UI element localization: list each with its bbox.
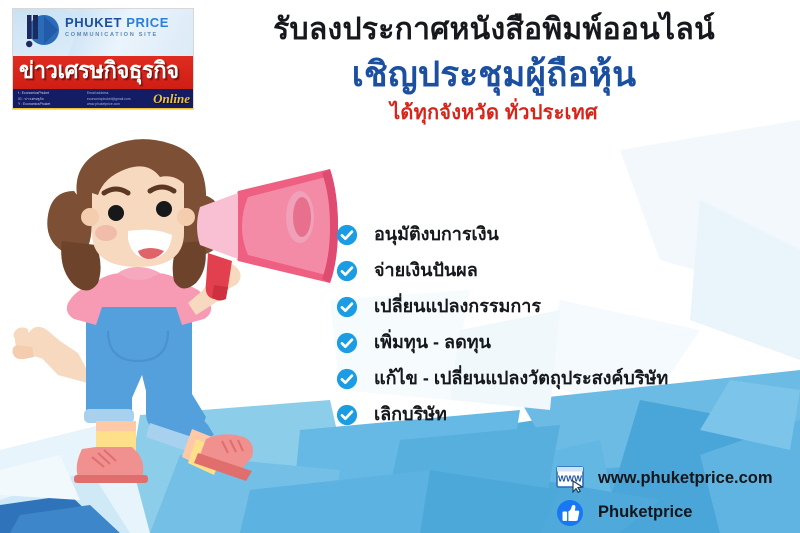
- check-circle-icon: [336, 224, 358, 246]
- check-circle-icon: [336, 404, 358, 426]
- list-item-label: เลิกบริษัท: [374, 404, 447, 426]
- list-item: เปลี่ยนแปลงกรรมการ: [336, 290, 668, 324]
- list-item: แก้ไข - เปลี่ยนแปลงวัตถุประสงค์บริษัท: [336, 362, 668, 396]
- facebook-thumbs-up-icon: [556, 499, 586, 527]
- logo-email-smallprint: Email addresseconomicphuket@gmail.comwww…: [87, 91, 131, 108]
- logo-navy-strip: f : EconomicsPhuketIG : ข่าวเศรษฐกิจY : …: [13, 89, 193, 110]
- list-item: เลิกบริษัท: [336, 398, 668, 432]
- website-text: www.phuketprice.com: [598, 469, 773, 489]
- list-item: อนุมัติงบการเงิน: [336, 218, 668, 252]
- brand-logo[interactable]: PHUKET PRICE COMMUNICATION SITE ข่าวเศรษ…: [12, 8, 194, 110]
- website-row[interactable]: WWW www.phuketprice.com: [556, 462, 773, 496]
- logo-red-band: ข่าวเศรษกิจธุรกิจ f : EconomicsPhuketIG …: [13, 56, 193, 110]
- list-item: เพิ่มทุน - ลดทุน: [336, 326, 668, 360]
- logo-thai-headline: ข่าวเศรษกิจธุรกิจ: [19, 56, 182, 85]
- logo-social-smallprint: f : EconomicsPhuketIG : ข่าวเศรษฐกิจY : …: [18, 91, 50, 108]
- check-circle-icon: [336, 368, 358, 390]
- headline-tagline: ได้ทุกจังหวัด ทั่วประเทศ: [196, 100, 792, 126]
- list-item-label: แก้ไข - เปลี่ยนแปลงวัตถุประสงค์บริษัท: [374, 368, 668, 390]
- face: [81, 151, 195, 267]
- check-circle-icon: [336, 332, 358, 354]
- illustration-svg: [0, 135, 340, 533]
- list-item-label: เปลี่ยนแปลงกรรมการ: [374, 296, 541, 318]
- facebook-text: Phuketprice: [598, 503, 692, 523]
- list-item-label: เพิ่มทุน - ลดทุน: [374, 332, 491, 354]
- headline-secondary: เชิญประชุมผู้ถือหุ้น: [196, 53, 792, 97]
- logo-wordmark: PHUKET PRICE COMMUNICATION SITE: [65, 16, 169, 39]
- logo-upper-panel: PHUKET PRICE COMMUNICATION SITE: [13, 9, 193, 56]
- www-browser-icon: WWW: [556, 465, 586, 493]
- logo-brand-text: PHUKET PRICE: [65, 16, 169, 29]
- list-item-label: อนุมัติงบการเงิน: [374, 224, 499, 246]
- contact-block: WWW www.phuketprice.com Phuketprice: [556, 462, 773, 530]
- headline-primary: รับลงประกาศหนังสือพิมพ์ออนไลน์: [196, 10, 792, 51]
- header: PHUKET PRICE COMMUNICATION SITE ข่าวเศรษ…: [0, 0, 800, 150]
- list-item-label: จ่ายเงินปันผล: [374, 260, 478, 282]
- girl-with-megaphone-illustration: [0, 135, 340, 533]
- k-monogram-icon: [22, 13, 62, 53]
- megaphone: [197, 169, 338, 301]
- check-circle-icon: [336, 260, 358, 282]
- logo-tagline: COMMUNICATION SITE: [65, 33, 169, 39]
- headline-block: รับลงประกาศหนังสือพิมพ์ออนไลน์ เชิญประชุ…: [196, 10, 792, 126]
- list-item: จ่ายเงินปันผล: [336, 254, 668, 288]
- logo-online-label: Online: [153, 92, 190, 105]
- service-checklist: อนุมัติงบการเงิน จ่ายเงินปันผล เปลี่ยนแป…: [336, 218, 668, 434]
- check-circle-icon: [336, 296, 358, 318]
- advertisement-banner: PHUKET PRICE COMMUNICATION SITE ข่าวเศรษ…: [0, 0, 800, 533]
- facebook-row[interactable]: Phuketprice: [556, 496, 773, 530]
- pointing-arm: [13, 327, 96, 385]
- svg-text:WWW: WWW: [558, 474, 583, 484]
